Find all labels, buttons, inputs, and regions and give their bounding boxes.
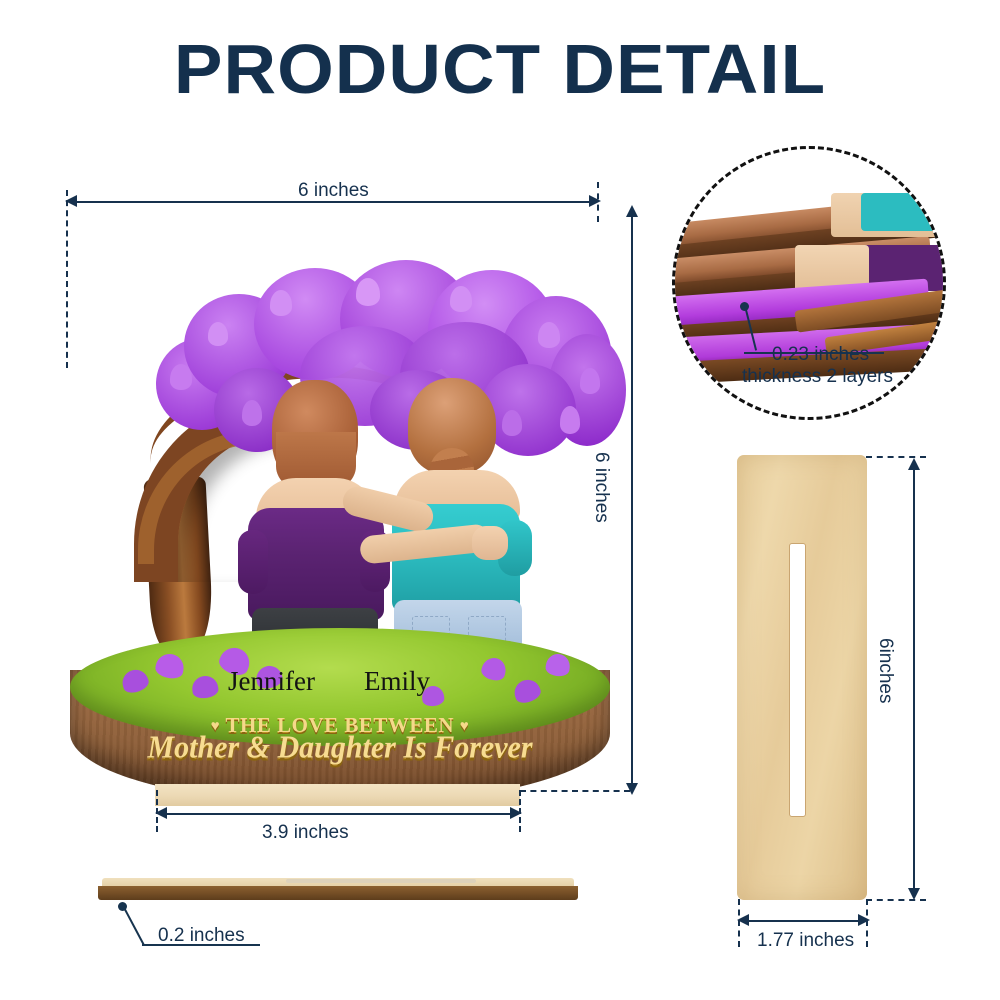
dimension-stand-width-label: 3.9 inches xyxy=(262,822,349,844)
dimension-plank-height-label: 6inches xyxy=(874,638,896,704)
infographic-canvas: PRODUCT DETAIL 6 inches 6 inches xyxy=(0,0,1000,1000)
wood-plank xyxy=(737,455,867,900)
mother-hand xyxy=(472,526,508,560)
dimension-right-height xyxy=(623,205,641,795)
dimension-plank-width-label: 1.77 inches xyxy=(757,930,854,952)
product-illustration: Jennifer Emily ♥ THE LOVE BETWEEN ♥ Moth… xyxy=(60,230,620,800)
plank-slot xyxy=(789,543,806,817)
engraving-line-2: Mother & Daughter Is Forever xyxy=(60,730,620,766)
page-title: PRODUCT DETAIL xyxy=(0,34,1000,104)
name-right: Emily xyxy=(364,666,430,697)
figure-daughter xyxy=(378,378,538,650)
name-left: Jennifer xyxy=(228,666,315,697)
base-thickness-leader xyxy=(122,905,144,945)
dimension-top-width-label: 6 inches xyxy=(298,180,369,202)
dimension-plank-height xyxy=(905,458,923,900)
stand-bar xyxy=(155,784,520,806)
base-thickness-label: 0.2 inches xyxy=(158,925,245,947)
base-edge-body xyxy=(98,886,578,900)
thickness-note-label: thickness 2 layers xyxy=(742,366,893,388)
dimension-plank-width xyxy=(738,912,872,932)
base-edge-view xyxy=(98,878,578,904)
thickness-value-label: 0.23 inches xyxy=(772,344,869,366)
base-edge-slot xyxy=(286,879,476,883)
